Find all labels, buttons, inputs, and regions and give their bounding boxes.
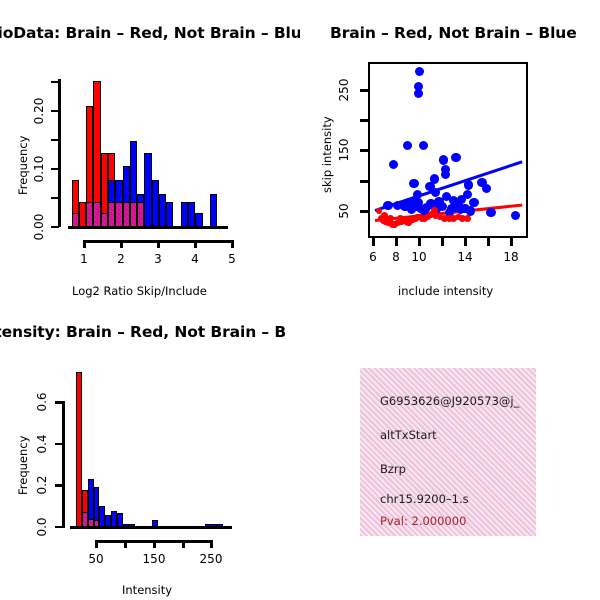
scatter-xticklabel: 10: [406, 250, 432, 264]
scatter-point: [441, 170, 450, 179]
scatter-point: [407, 205, 416, 214]
histogram-bar: [123, 202, 130, 227]
histogram-bar: [188, 202, 195, 227]
scatter-xtick: [487, 238, 490, 246]
scatter-point: [415, 67, 424, 76]
scatter-ytick: [360, 180, 368, 183]
hist-ratio-bars: [0, 0, 300, 300]
info-line-pval: Pval: 2.000000: [380, 514, 536, 528]
histogram-bar: [137, 202, 144, 227]
histogram-bar: [130, 202, 137, 227]
scatter-ytick: [360, 210, 368, 213]
scatter-xlabel: include intensity: [398, 284, 493, 298]
histogram-bar: [101, 213, 108, 227]
scatter-ytick: [360, 119, 368, 122]
scatter-point: [403, 141, 412, 150]
scatter-ytick: [360, 89, 368, 92]
figure-canvas: RatioData: Brain – Red, Not Brain – Blu …: [0, 0, 600, 600]
histogram-bar: [79, 202, 86, 227]
info-line-event: altTxStart: [380, 428, 536, 442]
panel-hist-ratio: RatioData: Brain – Red, Not Brain – Blu …: [0, 0, 300, 300]
scatter-point: [469, 198, 478, 207]
scatter-xtick: [372, 238, 375, 246]
hist-intensity-bars: [0, 300, 300, 600]
scatter-point: [451, 153, 460, 162]
scatter-point: [464, 215, 471, 222]
info-box: G6953626@J920573@j_ altTxStart Bzrp chr1…: [360, 368, 536, 536]
scatter-point: [387, 215, 394, 222]
scatter-xtick: [395, 238, 398, 246]
scatter-xtick: [464, 238, 467, 246]
scatter-point: [383, 201, 392, 210]
scatter-point: [511, 211, 520, 220]
histogram-bar: [144, 153, 151, 228]
histogram-bar: [159, 194, 166, 227]
info-line-coords: chr15.9200–1.s: [380, 492, 536, 506]
scatter-point: [389, 160, 398, 169]
scatter-xtick: [510, 238, 513, 246]
histogram-bar: [152, 180, 159, 227]
scatter-point: [486, 208, 495, 217]
histogram-bar: [166, 202, 173, 227]
histogram-bar: [217, 524, 223, 527]
scatter-point: [431, 207, 438, 214]
scatter-content: [370, 64, 526, 236]
scatter-point: [397, 215, 404, 222]
info-line-id: G6953626@J920573@j_: [380, 394, 536, 408]
scatter-xticklabel: 18: [500, 250, 522, 264]
histogram-bar: [72, 213, 79, 227]
scatter-point: [482, 184, 491, 193]
scatter-xtick: [418, 238, 421, 246]
scatter-point: [439, 155, 448, 164]
scatter-point: [419, 141, 428, 150]
scatter-yticklabel: 150: [337, 135, 351, 165]
scatter-xticklabel: 8: [385, 250, 407, 264]
histogram-bar: [86, 202, 93, 227]
histogram-bar: [115, 202, 122, 227]
histogram-bar: [94, 520, 100, 527]
scatter-xticklabel: 14: [454, 250, 476, 264]
histogram-bar: [129, 524, 135, 527]
histogram-bar: [93, 202, 100, 227]
panel-hist-intensity: ne Itensity: Brain – Red, Not Brain – B …: [0, 300, 300, 600]
scatter-plot-area: [368, 62, 528, 238]
histogram-bar: [108, 202, 115, 227]
scatter-point: [431, 188, 440, 197]
scatter-point: [414, 89, 423, 98]
histogram-bar: [210, 194, 217, 227]
panel-info: G6953626@J920573@j_ altTxStart Bzrp chr1…: [300, 300, 600, 600]
info-line-gene: Bzrp: [380, 462, 536, 476]
scatter-yticklabel: 50: [337, 196, 351, 226]
scatter-point: [464, 180, 473, 189]
scatter-title: Brain – Red, Not Brain – Blue: [330, 24, 577, 42]
histogram-bar: [152, 520, 158, 527]
histogram-bar: [195, 213, 202, 227]
scatter-yticklabel: 250: [337, 75, 351, 105]
histogram-bar: [181, 202, 188, 227]
panel-scatter: Brain – Red, Not Brain – Blue skip inten…: [300, 0, 600, 300]
scatter-point: [430, 174, 439, 183]
scatter-ylabel: skip intensity: [320, 116, 334, 193]
scatter-xticklabel: 6: [362, 250, 384, 264]
scatter-ytick: [360, 149, 368, 152]
scatter-xtick: [441, 238, 444, 246]
scatter-point: [409, 179, 418, 188]
